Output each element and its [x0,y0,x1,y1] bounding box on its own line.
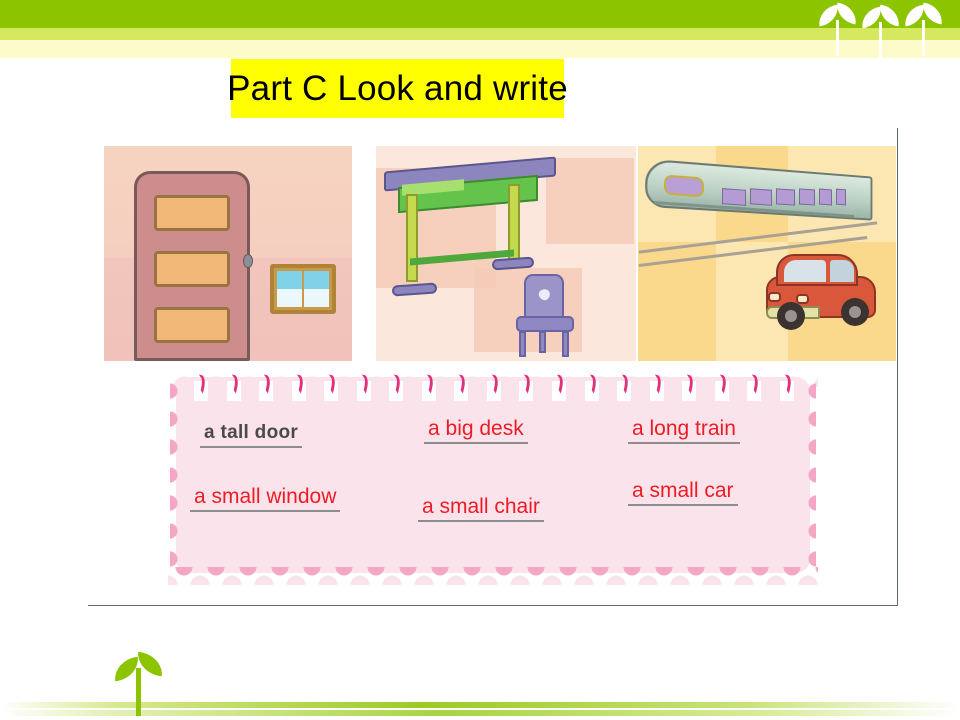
train-window [722,188,746,206]
answer-text-train: a long train [628,417,740,444]
door-knob-icon [243,254,253,268]
frame-rule-bottom [88,605,898,606]
spiral-ring-icon [422,373,436,401]
chair-leg [519,331,526,357]
answer-slot-train[interactable]: a long train [628,417,740,444]
picture-row [88,146,898,364]
sprout-icon [904,2,944,56]
sprout-stem [836,20,839,56]
train-window [776,188,795,205]
window-pane [277,271,302,289]
window-pane [304,289,329,307]
door-panel [154,307,230,343]
window-pane [277,289,302,307]
header-band-pale-yellow [0,40,960,58]
car-headlight [768,292,781,302]
spiral-ring-icon [747,373,761,401]
notepad-edge-right [800,377,820,573]
train-window [836,189,846,206]
train-cab-window [664,175,704,198]
title-plate: Part C Look and write [231,59,564,118]
footer-decoration [0,648,960,720]
answer-slot-chair[interactable]: a small chair [418,495,544,522]
header-sprout-group [818,2,948,58]
car-headlight [796,294,809,304]
sprout-stem [136,668,141,716]
spiral-ring-icon [389,373,403,401]
picture-train-car [638,146,896,361]
answer-text-door: a tall door [200,423,302,448]
header-band-light-green [0,28,960,40]
sprout-icon [112,648,166,716]
spiral-ring-icon [487,373,501,401]
spiral-ring-icon [682,373,696,401]
window-illustration [270,264,336,314]
spiral-ring-icon [259,373,273,401]
answer-slot-door[interactable]: a tall door [200,423,302,448]
spiral-ring-icon [454,373,468,401]
car-wheel [841,298,869,326]
car-wheel [777,302,805,330]
chair-leg [539,331,546,353]
spiral-ring-icon [780,373,794,401]
picture-desk-chair [376,146,636,361]
picture-door-window [104,146,352,361]
desk-leg [406,194,418,282]
spiral-ring-icon [292,373,306,401]
window-pane [304,271,329,289]
answer-slot-desk[interactable]: a big desk [424,417,528,444]
spiral-ring-icon [357,373,371,401]
notepad-edge-bottom [168,563,818,585]
answer-text-desk: a big desk [424,417,528,444]
train-window [799,188,815,205]
door-panel [154,251,230,287]
notepad-edge-left [166,377,186,573]
answer-notepad: a tall door a big desk a long train a sm… [168,371,818,583]
desk-bg-square [546,158,634,244]
chair-seat [516,316,574,332]
answer-list: a tall door a big desk a long train a sm… [190,423,796,563]
spiral-ring-icon [552,373,566,401]
sprout-stem [922,20,925,56]
car-windshield [784,260,826,282]
door-panel [154,195,230,231]
spiral-ring-icon [324,373,338,401]
page-title: Part C Look and write [227,71,568,106]
answer-text-chair: a small chair [418,495,544,522]
header-band-green [0,0,960,28]
sprout-stem [879,22,882,58]
spiral-ring-icon [227,373,241,401]
chair-leg [562,331,569,357]
sprout-icon [861,4,901,58]
door-illustration [134,171,250,361]
spiral-ring-icon [715,373,729,401]
train-window [819,189,832,206]
answer-slot-window[interactable]: a small window [190,485,340,512]
spiral-ring-icon [617,373,631,401]
spiral-ring-icon [194,373,208,401]
answer-text-car: a small car [628,479,738,506]
header-decoration-bands [0,0,960,58]
car-side-window [830,260,854,282]
train-window [750,188,772,206]
spiral-ring-icon [650,373,664,401]
spiral-ring-icon [585,373,599,401]
spiral-binding [194,373,794,403]
sprout-icon [818,2,858,56]
answer-slot-car[interactable]: a small car [628,479,738,506]
spiral-ring-icon [519,373,533,401]
answer-text-window: a small window [190,485,340,512]
